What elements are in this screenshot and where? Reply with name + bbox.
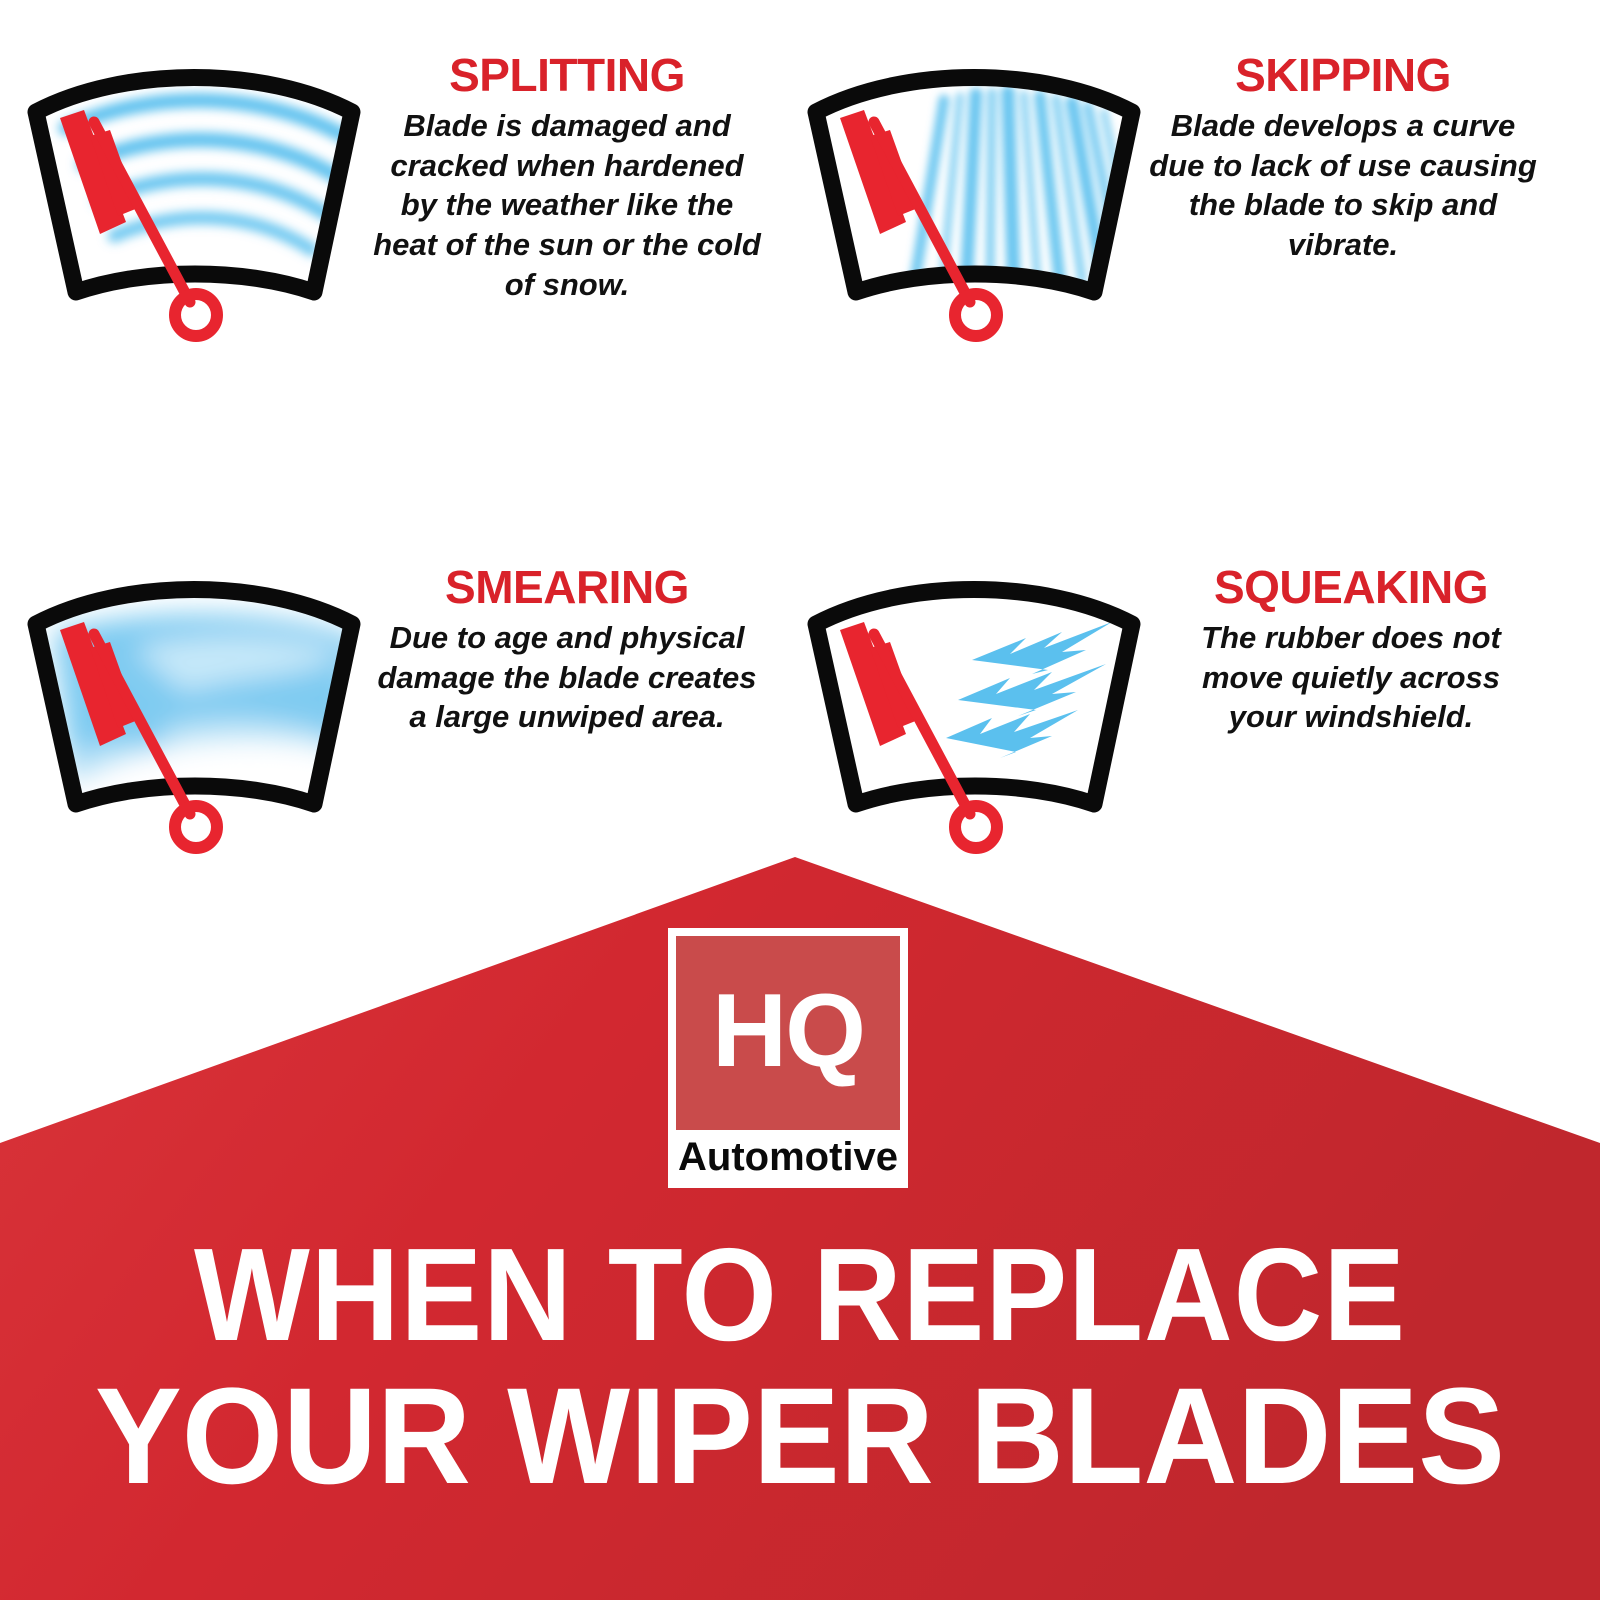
panel-description: Blade develops a curve due to lack of us…: [1148, 106, 1538, 265]
panel-text-smearing: SMEARING Due to age and physical damage …: [372, 552, 762, 737]
panel-description: The rubber does not move quietly across …: [1166, 618, 1536, 737]
headline-block: WHEN TO REPLACE YOUR WIPER BLADES: [0, 1228, 1600, 1506]
infographic-canvas: SPLITTING Blade is damaged and cracked w…: [0, 0, 1600, 1600]
wiper-bolts-icon: [794, 552, 1154, 852]
panel-squeaking: SQUEAKING The rubber does not move quiet…: [794, 552, 1536, 852]
logo-mark-box: HQ: [676, 936, 900, 1130]
wiper-streaks-icon: [794, 40, 1154, 340]
wiper-smear-icon: [14, 552, 374, 852]
logo-mark-text: HQ: [712, 979, 864, 1083]
panel-title: SPLITTING: [372, 52, 762, 98]
headline-line-2: YOUR WIPER BLADES: [40, 1367, 1560, 1507]
panel-title: SQUEAKING: [1166, 564, 1536, 610]
hq-automotive-logo: HQ Automotive: [668, 928, 908, 1188]
headline-line-1: WHEN TO REPLACE: [56, 1228, 1544, 1363]
panel-title: SMEARING: [372, 564, 762, 610]
logo-wordmark: Automotive: [676, 1130, 900, 1180]
panel-skipping: SKIPPING Blade develops a curve due to l…: [794, 40, 1538, 340]
panel-title: SKIPPING: [1148, 52, 1538, 98]
wiper-arcs-icon: [14, 40, 374, 340]
panel-text-skipping: SKIPPING Blade develops a curve due to l…: [1148, 40, 1538, 265]
panel-description: Due to age and physical damage the blade…: [372, 618, 762, 737]
panel-splitting: SPLITTING Blade is damaged and cracked w…: [14, 40, 762, 340]
panel-text-squeaking: SQUEAKING The rubber does not move quiet…: [1166, 552, 1536, 737]
panel-text-splitting: SPLITTING Blade is damaged and cracked w…: [372, 40, 762, 304]
panel-smearing: SMEARING Due to age and physical damage …: [14, 552, 762, 852]
panel-description: Blade is damaged and cracked when harden…: [372, 106, 762, 304]
